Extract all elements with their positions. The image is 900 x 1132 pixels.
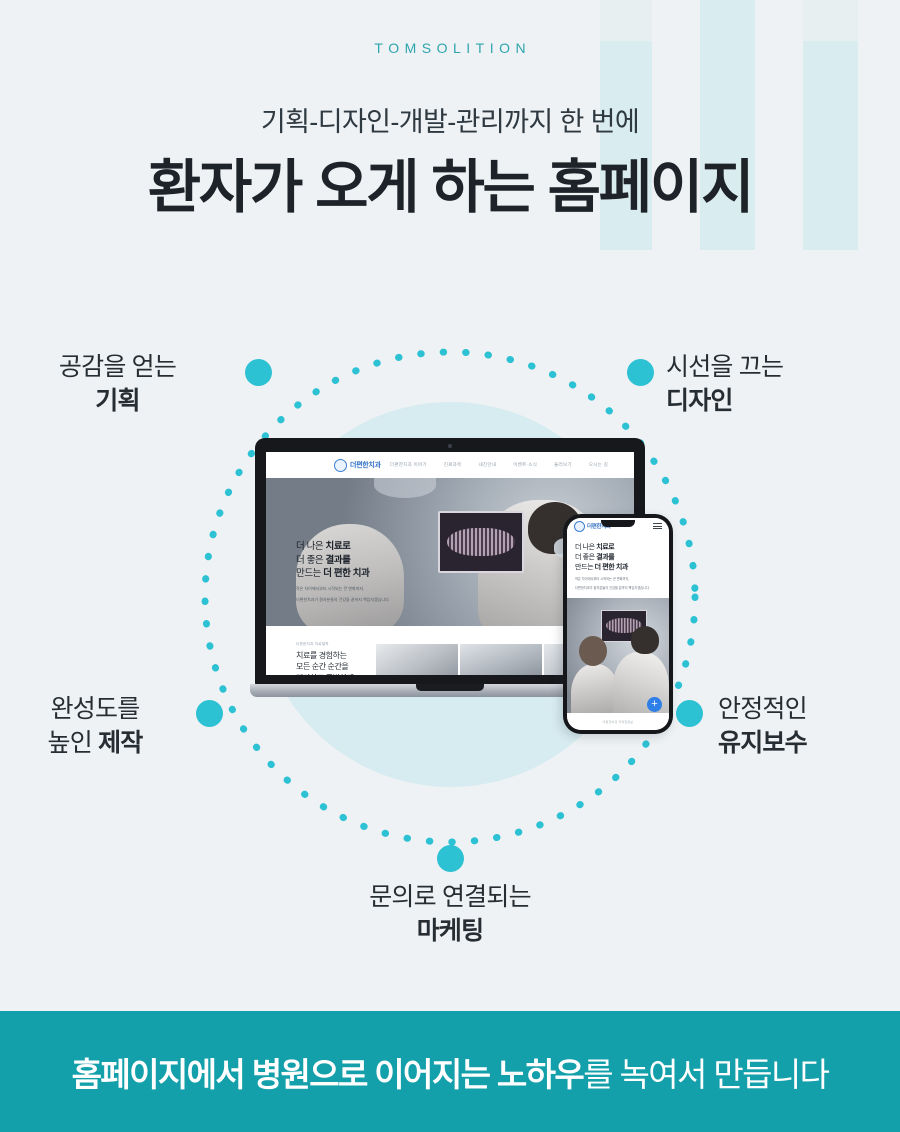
stripe-1-top bbox=[600, 0, 652, 41]
banner-text-light: 를 녹여서 만듭니다 bbox=[583, 1056, 828, 1093]
site-menu-item: 이벤트·소식 bbox=[513, 462, 537, 468]
stripe-3-top bbox=[803, 0, 858, 41]
phone-hero-line-1-bold: 치료로 bbox=[596, 544, 614, 551]
label-marketing-line2: 마케팅 bbox=[0, 914, 900, 948]
promo-poster: TOMSOLITION 기획-디자인-개발-관리까지 한 번에 환자가 오게 하… bbox=[0, 0, 900, 1132]
phone-footer-text: 더편한치과 저작권정보 bbox=[603, 720, 634, 724]
stripe-2-top bbox=[700, 0, 755, 41]
hero-line-1-bold: 치료로 bbox=[326, 541, 351, 552]
headline-strong: 환자가 오게 하는 bbox=[148, 155, 534, 220]
hero-line-3-bold: 더 편한 치과 bbox=[323, 568, 369, 579]
label-build: 완성도를 높인 제작 bbox=[0, 692, 190, 760]
page-title: 환자가 오게 하는 홈페이지 bbox=[0, 152, 900, 224]
hamburger-menu-icon[interactable] bbox=[653, 523, 662, 529]
phone-hero-copy: 더 나은 치료로 더 좋은 결과를 만드는 더 편한 치과 작은 차이에서부터 … bbox=[567, 534, 669, 591]
label-support-line2: 유지보수 bbox=[718, 726, 900, 760]
hero-line-1: 더 나은 치료로 bbox=[296, 540, 390, 554]
phone-hero-sub-1: 작은 차이에서부터 시작되는 큰 변화까지, bbox=[575, 577, 661, 582]
hero-line-1-light: 더 나은 bbox=[296, 541, 326, 552]
lower-line-3-bold: 편안하고 특별하게 bbox=[296, 674, 354, 675]
lower-line-2: 모든 순간 순간을 bbox=[296, 661, 354, 673]
site-logo-text: 더편한치과 bbox=[350, 460, 381, 470]
phone-hero-line-2-light: 더 좋은 bbox=[575, 554, 596, 561]
hero-sub-1: 작은 차이에서부터 시작되는 큰 변화까지, bbox=[296, 586, 390, 592]
patient-figure bbox=[571, 664, 619, 718]
lower-line-1: 치료를 경험하는 bbox=[296, 650, 354, 662]
lower-thumb bbox=[460, 644, 542, 675]
tooth-logo-icon bbox=[334, 459, 347, 472]
headline-light: 홈페이지 bbox=[534, 155, 753, 220]
label-build-line1: 완성도를 bbox=[0, 692, 190, 726]
phone-hero-line-2: 더 좋은 결과를 bbox=[575, 553, 661, 563]
site-menu-item: 둘러보기 bbox=[554, 462, 572, 468]
site-navbar: 더편한치과 더편한치과 이야기 진료과목 내진안내 이벤트·소식 둘러보기 오시… bbox=[266, 452, 634, 478]
hero-line-2-light: 더 좋은 bbox=[296, 555, 326, 566]
banner-text: 홈페이지에서 병원으로 이어지는 노하우를 녹여서 만듭니다 bbox=[72, 1048, 829, 1096]
phone-hero-sub-2: 더편한치과가 환자분들의 건강을 끝까지 책임지겠습니다. bbox=[575, 586, 661, 591]
site-menu-item: 더편한치과 이야기 bbox=[390, 462, 427, 468]
phone-footer: 더편한치과 저작권정보 bbox=[567, 713, 669, 730]
phone-hero-line-3-bold: 더 편한 치과 bbox=[595, 564, 628, 571]
hero-line-2: 더 좋은 결과를 bbox=[296, 554, 390, 568]
tooth-logo-icon bbox=[574, 521, 585, 532]
patient-head-shape bbox=[579, 636, 607, 666]
label-build-line2-light: 높인 bbox=[48, 729, 99, 757]
phone-hero-line-2-bold: 결과를 bbox=[596, 554, 614, 561]
process-diagram: 공감을 얻는 기획 시선을 끄는 디자인 완성도를 높인 제작 안정적인 유지보… bbox=[0, 300, 900, 1000]
phone-hero-line-3: 만드는 더 편한 치과 bbox=[575, 563, 661, 573]
label-plan-line1: 공감을 얻는 bbox=[0, 350, 235, 384]
lower-line-3: 편안하고 특별하게 bbox=[296, 673, 354, 675]
laptop-camera-icon bbox=[448, 444, 452, 448]
site-lower-copy: 더편한치과 치료철학 치료를 경험하는 모든 순간 순간을 편안하고 특별하게 bbox=[296, 642, 354, 675]
node-support bbox=[676, 700, 703, 727]
hamburger-bar bbox=[653, 526, 662, 527]
label-design-line2: 디자인 bbox=[666, 384, 900, 418]
node-design bbox=[627, 359, 654, 386]
dental-lamp-shape bbox=[374, 478, 436, 498]
bottom-banner: 홈페이지에서 병원으로 이어지는 노하우를 녹여서 만듭니다 bbox=[0, 1011, 900, 1132]
site-menu-item: 내진안내 bbox=[479, 462, 497, 468]
hamburger-bar bbox=[653, 523, 662, 524]
site-menu-item: 오시는 길 bbox=[589, 462, 608, 468]
laptop-base-notch bbox=[416, 684, 484, 691]
banner-text-bold: 홈페이지에서 병원으로 이어지는 노하우 bbox=[72, 1056, 584, 1093]
lower-tag: 더편한치과 치료철학 bbox=[296, 642, 354, 647]
phone-screen: 더편한치과 더 나은 치료로 더 좋은 결과를 만드는 더 편한 치과 작은 차… bbox=[567, 518, 669, 730]
header-subtitle: 기획-디자인-개발-관리까지 한 번에 bbox=[0, 100, 900, 139]
label-support: 안정적인 유지보수 bbox=[718, 692, 900, 760]
hamburger-bar bbox=[653, 528, 662, 529]
node-market bbox=[437, 845, 464, 872]
hero-line-3-light: 만드는 bbox=[296, 568, 323, 579]
phone-notch bbox=[601, 520, 635, 527]
site-hero-copy: 더 나은 치료로 더 좋은 결과를 만드는 더 편한 치과 작은 차이에서부터 … bbox=[296, 540, 390, 603]
lower-thumb bbox=[376, 644, 458, 675]
hero-sub-2: 더편한치과가 환자분들의 건강을 끝까지 책임지겠습니다. bbox=[296, 597, 390, 603]
label-support-line1: 안정적인 bbox=[718, 692, 900, 726]
site-menu: 더편한치과 이야기 진료과목 내진안내 이벤트·소식 둘러보기 오시는 길 bbox=[390, 462, 616, 468]
hero-line-3: 만드는 더 편한 치과 bbox=[296, 567, 390, 581]
dentist-head-shape bbox=[631, 626, 659, 654]
node-build bbox=[196, 700, 223, 727]
brand-name: TOMSOLITION bbox=[0, 40, 900, 56]
label-plan-line2: 기획 bbox=[0, 384, 235, 418]
site-logo: 더편한치과 bbox=[334, 459, 381, 472]
plus-icon[interactable]: + bbox=[647, 697, 662, 712]
label-plan: 공감을 얻는 기획 bbox=[0, 350, 235, 418]
label-marketing-line1: 문의로 연결되는 bbox=[0, 880, 900, 914]
node-plan bbox=[245, 359, 272, 386]
phone-hero-line-3-light: 만드는 bbox=[575, 564, 595, 571]
hero-line-2-bold: 결과를 bbox=[326, 555, 351, 566]
site-menu-item: 진료과목 bbox=[444, 462, 462, 468]
label-build-line2-bold: 제작 bbox=[98, 729, 142, 757]
label-marketing: 문의로 연결되는 마케팅 bbox=[0, 880, 900, 948]
label-design-line1: 시선을 끄는 bbox=[666, 350, 900, 384]
xray-monitor bbox=[438, 511, 524, 573]
label-build-line2: 높인 제작 bbox=[0, 726, 190, 760]
phone-mockup: 더편한치과 더 나은 치료로 더 좋은 결과를 만드는 더 편한 치과 작은 차… bbox=[563, 514, 673, 734]
phone-hero-line-1: 더 나은 치료로 bbox=[575, 543, 661, 553]
phone-hero-line-1-light: 더 나은 bbox=[575, 544, 596, 551]
label-design: 시선을 끄는 디자인 bbox=[666, 350, 900, 418]
